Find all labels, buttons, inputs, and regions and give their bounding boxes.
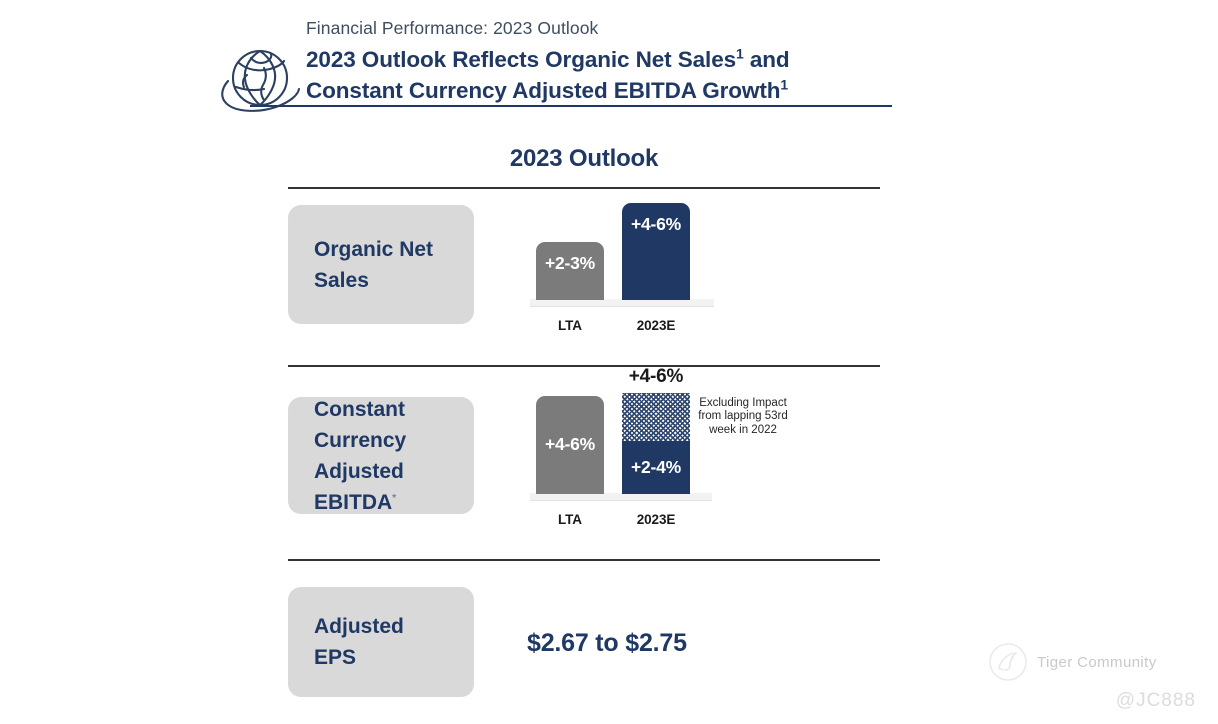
bar-group-2023e: +4-6% xyxy=(622,203,690,300)
label-ons-line-2: Sales xyxy=(314,265,448,296)
label-ebit-line-1: Constant xyxy=(314,394,448,425)
title-line-1: 2023 Outlook Reflects Organic Net Sales xyxy=(306,47,736,72)
bar-2023e: +4-6% xyxy=(622,203,690,300)
header-underline xyxy=(250,105,892,107)
label-adjusted-eps: Adjusted EPS xyxy=(288,587,474,697)
row-organic-net-sales: Organic Net Sales +2-3% LTA +4-6% 2023E xyxy=(0,205,1218,355)
outlook-panel: 2023 Outlook Organic Net Sales +2-3% LTA… xyxy=(0,118,1218,724)
chart-baseline xyxy=(530,299,714,307)
label-ebit-line-4-text: EBITDA xyxy=(314,491,392,514)
bar-value-lta: +2-3% xyxy=(536,253,604,274)
label-eps-line-2: EPS xyxy=(314,642,448,673)
label-eps-line-1: Adjusted xyxy=(314,611,448,642)
bar-group-lta: +2-3% xyxy=(536,242,604,300)
bar-lta: +2-3% xyxy=(536,242,604,300)
label-organic-net-sales: Organic Net Sales xyxy=(288,205,474,324)
page-title: 2023 Outlook Reflects Organic Net Sales1… xyxy=(306,44,906,106)
bar-value-2023e-solid: +2-4% xyxy=(622,457,690,478)
title-footnote-2: 1 xyxy=(780,77,788,93)
annotation-excluding-53rd-week: Excluding Impact from lapping 53rd week … xyxy=(698,397,788,437)
x-label-lta: LTA xyxy=(536,318,604,333)
bar-lta: +4-6% xyxy=(536,396,604,494)
label-ebit-footnote: * xyxy=(392,492,396,504)
bar-value-2023e-total: +4-6% xyxy=(622,366,690,388)
value-adjusted-eps: $2.67 to $2.75 xyxy=(527,629,687,658)
label-ons-line-1: Organic Net xyxy=(314,234,448,265)
title-line-2: Constant Currency Adjusted EBITDA Growth xyxy=(306,78,780,103)
bar-group-2023e: +4-6% +2-4% xyxy=(622,393,690,494)
eyebrow-label: Financial Performance: 2023 Outlook xyxy=(306,18,598,39)
bar-value-lta: +4-6% xyxy=(536,434,604,455)
row-constant-currency-ebitda: Constant Currency Adjusted EBITDA* +4-6%… xyxy=(0,397,1218,549)
divider-top xyxy=(288,187,880,189)
bar-group-lta: +4-6% xyxy=(536,396,604,494)
bar-2023e-hatched-segment xyxy=(622,393,690,441)
bar-2023e-solid-segment: +2-4% xyxy=(622,441,690,494)
title-footnote-1: 1 xyxy=(736,46,744,62)
divider-bottom xyxy=(288,559,880,561)
x-label-lta: LTA xyxy=(536,512,604,527)
label-ebit-line-4: EBITDA* xyxy=(314,487,448,518)
label-ebit-line-3: Adjusted xyxy=(314,456,448,487)
panel-title: 2023 Outlook xyxy=(288,145,880,173)
label-ebit-line-2: Currency xyxy=(314,425,448,456)
title-conjunction: and xyxy=(744,47,790,72)
divider-middle xyxy=(288,365,880,367)
x-label-2023e: 2023E xyxy=(622,318,690,333)
row-adjusted-eps: Adjusted EPS $2.67 to $2.75 xyxy=(0,587,1218,709)
label-constant-currency-ebitda: Constant Currency Adjusted EBITDA* xyxy=(288,397,474,514)
bar-value-2023e: +4-6% xyxy=(622,214,690,235)
slide-header: Financial Performance: 2023 Outlook 2023… xyxy=(0,0,1218,118)
chart-baseline xyxy=(530,493,712,501)
x-label-2023e: 2023E xyxy=(622,512,690,527)
chart-organic-net-sales: +2-3% LTA +4-6% 2023E xyxy=(522,203,722,333)
